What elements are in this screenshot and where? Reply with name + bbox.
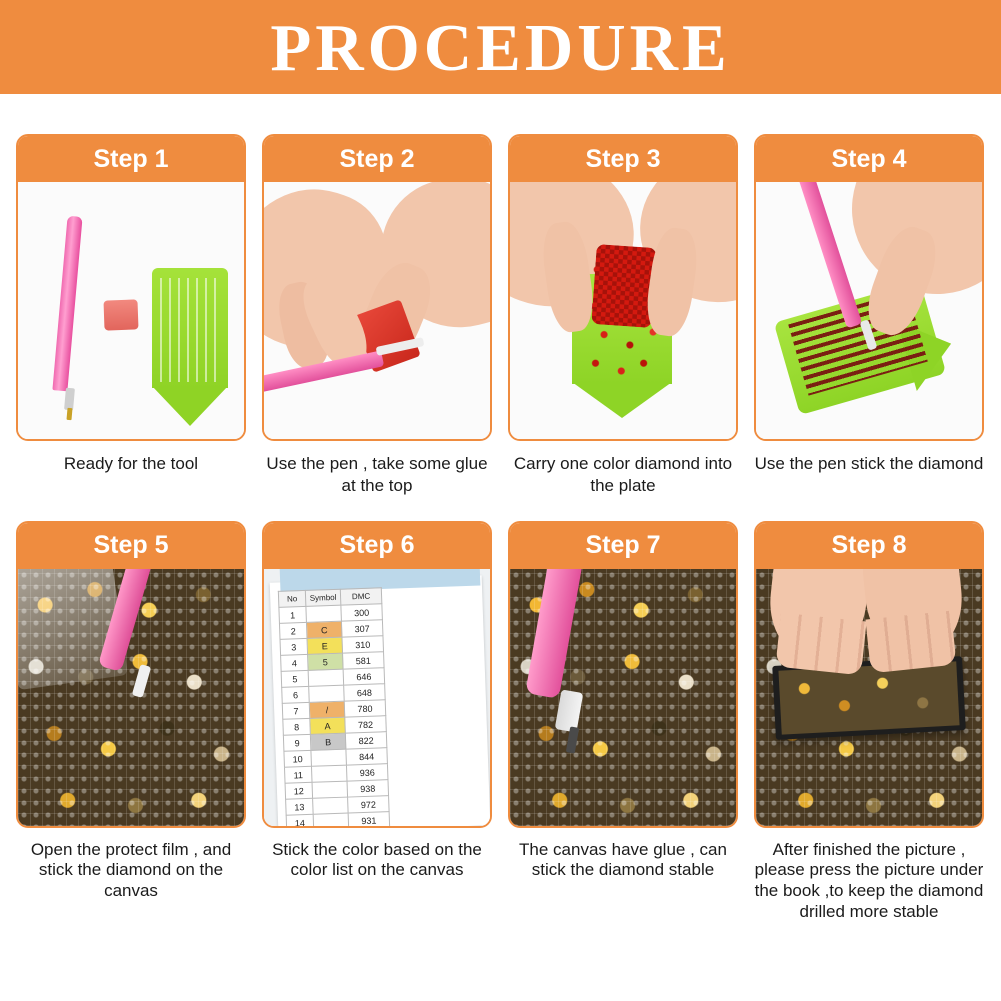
cell-dmc: 931 <box>348 811 390 825</box>
step-caption-1: Ready for the tool <box>12 453 250 475</box>
cell-symbol <box>312 781 348 798</box>
step-title-2: Step 2 <box>264 136 490 182</box>
pen-ferrule-icon <box>64 388 75 411</box>
cell-symbol <box>309 685 345 702</box>
column-header-no: No <box>278 590 306 607</box>
table-body: 13002C3073E31045581564666487/7808A7829B8… <box>279 603 390 825</box>
cell-symbol <box>308 669 344 686</box>
cell-no: 11 <box>284 766 312 783</box>
red-diamond-pile-icon <box>591 244 656 328</box>
cell-dmc: 300 <box>341 603 383 620</box>
cell-no: 14 <box>286 814 314 826</box>
step-image-7 <box>510 569 736 826</box>
cell-no: 2 <box>279 622 307 639</box>
cell-no: 10 <box>284 750 312 767</box>
cell-no: 13 <box>286 798 314 815</box>
cell-dmc: 780 <box>344 699 386 716</box>
step-title-4: Step 4 <box>756 136 982 182</box>
green-tray-point-icon <box>572 382 672 418</box>
step-title-3: Step 3 <box>510 136 736 182</box>
step-cell-4: Step 4 Use the pen stick the diamond <box>754 134 984 497</box>
step-cell-2: Step 2 Use the pen , take some glue at t… <box>262 134 492 497</box>
page-title: PROCEDURE <box>270 15 730 82</box>
step-image-4 <box>756 182 982 439</box>
cell-no: 1 <box>279 606 307 623</box>
illustration-pour-diamonds <box>510 182 736 439</box>
illustration-pen-takes-glue <box>264 182 490 439</box>
cell-dmc: 844 <box>346 747 388 764</box>
column-header-symbol: Symbol <box>305 589 341 606</box>
cell-dmc: 310 <box>342 635 384 652</box>
cell-symbol <box>306 605 342 622</box>
step-caption-7: The canvas have glue , can stick the dia… <box>504 840 742 881</box>
cell-no: 4 <box>281 654 309 671</box>
cell-no: 8 <box>283 718 311 735</box>
step-card-3: Step 3 <box>508 134 738 441</box>
steps-row-1: Step 1 Ready for the tool <box>0 134 1001 497</box>
step-cell-6: Step 6 No Symbol DMC <box>262 521 492 923</box>
cell-symbol <box>311 765 347 782</box>
step-image-5 <box>18 569 244 826</box>
header-banner: PROCEDURE <box>0 0 1001 94</box>
step-image-1 <box>18 182 244 439</box>
step-cell-5: Step 5 Open the protect film , and stick… <box>16 521 246 923</box>
step-caption-4: Use the pen stick the diamond <box>750 453 988 475</box>
step-cell-8: Step 8 After finished the picture , plea… <box>754 521 984 923</box>
cell-dmc: 646 <box>343 667 385 684</box>
step-caption-3: Carry one color diamond into the plate <box>504 453 742 497</box>
step-cell-1: Step 1 Ready for the tool <box>16 134 246 497</box>
cell-symbol: A <box>310 717 346 734</box>
step-cell-3: Step 3 Carry one color diamond into the … <box>508 134 738 497</box>
column-header-dmc: DMC <box>340 587 382 604</box>
procedure-infographic: PROCEDURE Step 1 Rea <box>0 0 1001 1001</box>
cell-symbol <box>311 749 347 766</box>
color-list-sheet: No Symbol DMC 13002C3073E310455815646664… <box>264 569 490 826</box>
step-cell-7: Step 7 The canvas have glue , can stick … <box>508 521 738 923</box>
step-card-5: Step 5 <box>16 521 246 828</box>
step-caption-5: Open the protect film , and stick the di… <box>12 840 250 902</box>
step-title-7: Step 7 <box>510 523 736 569</box>
color-symbol-table: No Symbol DMC 13002C3073E310455815646664… <box>278 587 390 826</box>
cell-dmc: 972 <box>348 795 390 812</box>
cell-dmc: 307 <box>341 619 383 636</box>
cell-dmc: 782 <box>345 715 387 732</box>
cell-dmc: 822 <box>345 731 387 748</box>
cell-no: 9 <box>283 734 311 751</box>
step-title-6: Step 6 <box>264 523 490 569</box>
step-card-6: Step 6 No Symbol DMC <box>262 521 492 828</box>
cell-symbol: 5 <box>308 653 344 670</box>
step-card-4: Step 4 <box>754 134 984 441</box>
cell-no: 6 <box>282 686 310 703</box>
step-image-8 <box>756 569 982 826</box>
illustration-pen-sticks-diamond <box>756 182 982 439</box>
step-card-2: Step 2 <box>262 134 492 441</box>
step-image-6: No Symbol DMC 13002C3073E310455815646664… <box>264 569 490 826</box>
illustration-tool-set <box>18 182 244 439</box>
cell-symbol: B <box>310 733 346 750</box>
cell-symbol: C <box>306 621 342 638</box>
book-cover-art-icon <box>778 661 959 734</box>
cell-symbol <box>313 813 349 826</box>
cell-no: 3 <box>280 638 308 655</box>
cell-symbol: / <box>309 701 345 718</box>
right-fingers-icon <box>865 610 956 673</box>
cell-dmc: 648 <box>344 683 386 700</box>
pink-pen-icon <box>52 216 82 392</box>
cell-dmc: 938 <box>347 779 389 796</box>
step-title-1: Step 1 <box>18 136 244 182</box>
cell-no: 12 <box>285 782 313 799</box>
step-title-8: Step 8 <box>756 523 982 569</box>
cell-no: 5 <box>281 670 309 687</box>
step-image-2 <box>264 182 490 439</box>
tray-grooves-icon <box>160 278 220 382</box>
cell-symbol <box>313 797 349 814</box>
step-caption-8: After finished the picture , please pres… <box>750 840 988 923</box>
pen-tip-icon <box>66 408 72 420</box>
step-caption-2: Use the pen , take some glue at the top <box>258 453 496 497</box>
cell-no: 7 <box>282 702 310 719</box>
step-caption-6: Stick the color based on the color list … <box>258 840 496 881</box>
cell-symbol: E <box>307 637 343 654</box>
glue-wax-icon <box>103 299 138 330</box>
cell-dmc: 936 <box>346 763 388 780</box>
steps-row-2: Step 5 Open the protect film , and stick… <box>0 521 1001 923</box>
step-card-8: Step 8 <box>754 521 984 828</box>
step-title-5: Step 5 <box>18 523 244 569</box>
cell-dmc: 581 <box>343 651 385 668</box>
green-tray-point-icon <box>152 386 228 426</box>
step-card-7: Step 7 <box>508 521 738 828</box>
step-card-1: Step 1 <box>16 134 246 441</box>
step-image-3 <box>510 182 736 439</box>
left-fingers-icon <box>775 612 866 675</box>
